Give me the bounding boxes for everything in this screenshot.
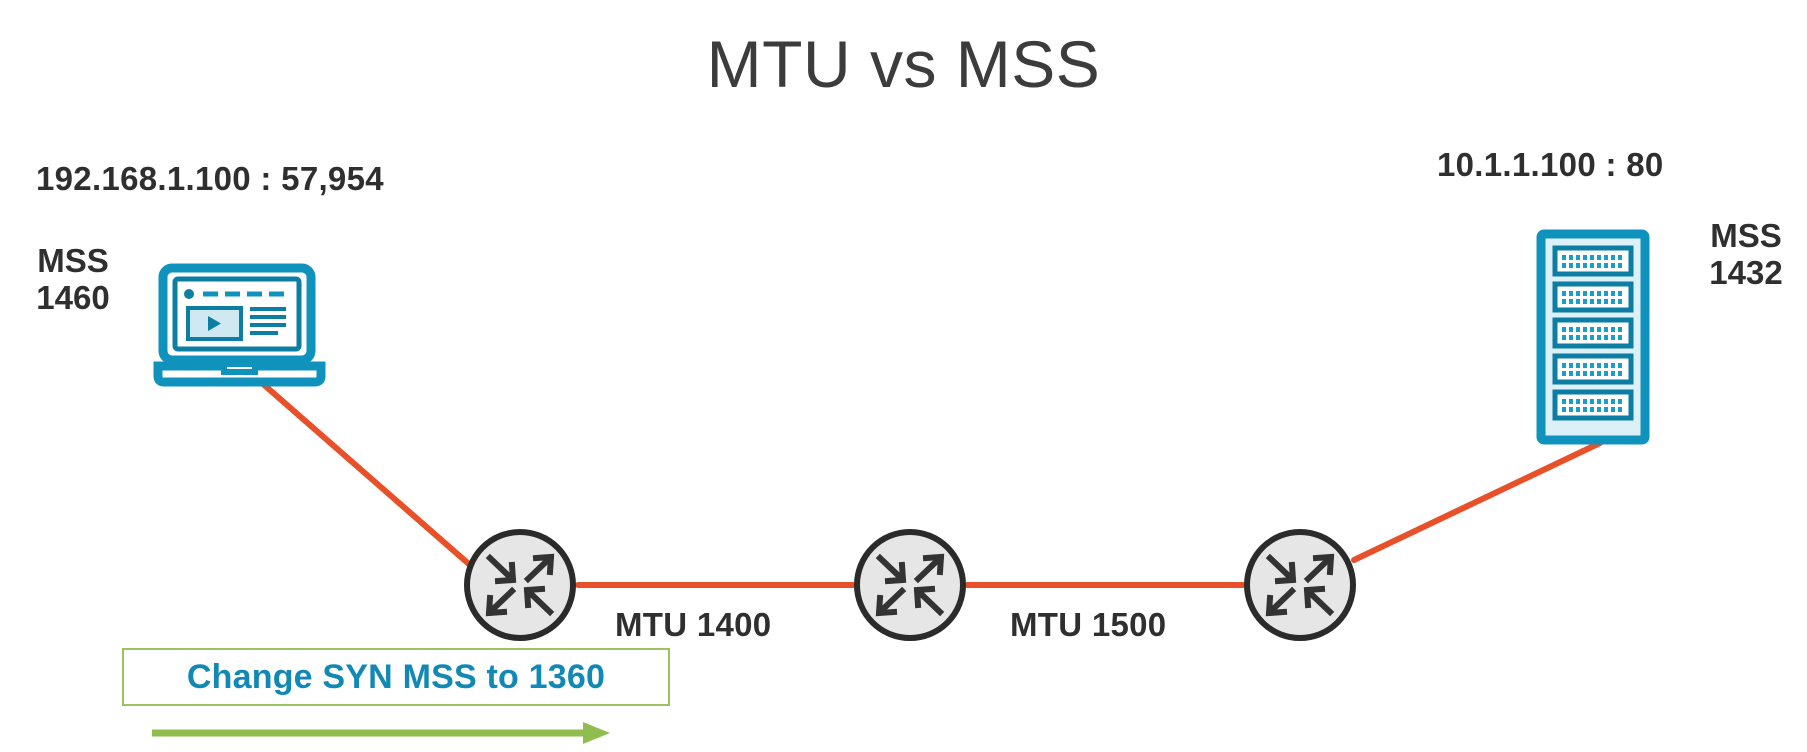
router-icon-2[interactable] [857, 532, 963, 638]
link-router3-server [1354, 443, 1600, 560]
laptop-icon [158, 268, 321, 382]
link-client-router1 [255, 377, 470, 565]
server-mss-label: MSS 1432 [1686, 218, 1806, 292]
mtu-label-segment-1: MTU 1400 [615, 606, 771, 644]
router-icon-1[interactable] [467, 532, 573, 638]
server-rack-icon [1541, 234, 1645, 440]
mtu-label-segment-2: MTU 1500 [1010, 606, 1166, 644]
server-mss-value: 1432 [1686, 255, 1806, 292]
server-mss-title: MSS [1686, 218, 1806, 255]
right-arrow-icon [152, 722, 610, 744]
client-mss-label: MSS 1460 [8, 243, 138, 317]
client-mss-value: 1460 [8, 280, 138, 317]
client-address-label: 192.168.1.100 : 57,954 [36, 160, 384, 198]
syn-mss-callout-text: Change SYN MSS to 1360 [187, 658, 605, 697]
client-mss-title: MSS [8, 243, 138, 280]
server-address-label: 10.1.1.100 : 80 [1437, 146, 1664, 184]
syn-mss-callout-box: Change SYN MSS to 1360 [122, 648, 670, 706]
router-icon-3[interactable] [1247, 532, 1353, 638]
diagram-graphics-layer [0, 0, 1807, 752]
diagram-canvas: MTU vs MSS [0, 0, 1807, 752]
